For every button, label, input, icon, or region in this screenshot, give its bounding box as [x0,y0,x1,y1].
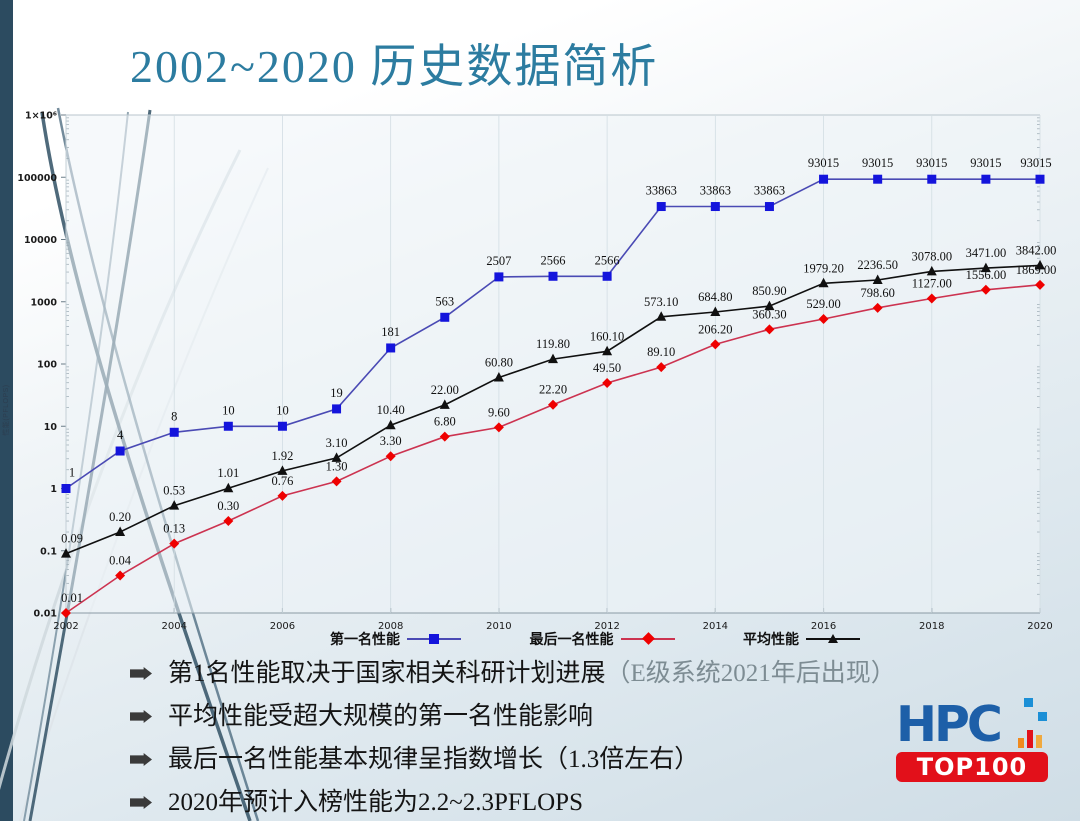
hpc-top100-logo: HPC TOP100 [896,700,1066,788]
list-item: 平均性能受超大规模的第一名性能影响 [130,698,920,737]
legend-item-average: 平均性能 [743,629,860,649]
svg-text:2566: 2566 [595,253,620,267]
svg-text:1556.00: 1556.00 [966,268,1007,282]
svg-text:93015: 93015 [862,156,893,170]
svg-text:3.10: 3.10 [326,436,348,450]
legend-item-last: 最后一名性能 [530,629,675,649]
svg-text:2002: 2002 [53,621,78,632]
svg-text:93015: 93015 [916,156,947,170]
svg-text:1: 1 [50,484,57,495]
svg-text:850.90: 850.90 [752,284,786,298]
legend-label-first: 第一名性能 [330,629,400,649]
svg-text:1979.20: 1979.20 [803,261,844,275]
svg-text:22.00: 22.00 [431,383,459,397]
logo-sub-badge: TOP100 [896,752,1048,782]
svg-text:3842.00: 3842.00 [1016,243,1057,257]
svg-text:684.80: 684.80 [698,290,732,304]
chart-svg: 1×10⁶1000001000010001001010.10.012002200… [0,105,1080,645]
legend-item-first: 第一名性能 [330,629,461,649]
svg-text:206.20: 206.20 [698,322,732,336]
svg-text:181: 181 [381,325,400,339]
svg-text:0.01: 0.01 [61,591,83,605]
svg-text:33863: 33863 [754,184,785,198]
svg-text:2236.50: 2236.50 [857,258,898,272]
bullet-arrow-icon [130,796,152,809]
svg-text:10: 10 [222,403,235,417]
slide-root: 2002~2020 历史数据简析 1×10⁶100000100001000100… [0,0,1080,821]
svg-text:2006: 2006 [270,621,295,632]
svg-text:798.60: 798.60 [860,286,894,300]
svg-text:10: 10 [44,422,58,433]
svg-text:2507: 2507 [486,254,511,268]
svg-text:1.01: 1.01 [217,466,239,480]
svg-text:2020: 2020 [1027,621,1052,632]
list-item: 第1名性能取决于国家相关科研计划进展（E级系统2021年后出现） [130,655,920,694]
bullet-text: 平均性能受超大规模的第一名性能影响 [168,698,593,736]
page-title: 2002~2020 历史数据简析 [130,30,658,96]
svg-text:0.01: 0.01 [34,609,57,620]
svg-text:119.80: 119.80 [536,337,570,351]
svg-text:2566: 2566 [541,253,566,267]
svg-text:4: 4 [117,428,124,442]
logo-sub-text: TOP100 [917,755,1027,779]
list-item: 最后一名性能基本规律呈指数增长（1.3倍左右） [130,741,920,780]
svg-text:573.10: 573.10 [644,295,678,309]
bullet-list: 第1名性能取决于国家相关科研计划进展（E级系统2021年后出现） 平均性能受超大… [130,655,920,821]
svg-text:0.04: 0.04 [109,554,132,568]
svg-text:49.50: 49.50 [593,361,621,375]
svg-text:0.13: 0.13 [163,522,185,536]
svg-text:563: 563 [435,294,454,308]
svg-text:60.80: 60.80 [485,355,513,369]
svg-text:22.20: 22.20 [539,383,567,397]
y-axis-title: 性能(PFLOPS) [1,380,11,440]
svg-text:1869.00: 1869.00 [1016,263,1057,277]
logo-barchart-icon [1016,722,1046,748]
svg-text:529.00: 529.00 [806,297,840,311]
svg-text:93015: 93015 [1020,156,1051,170]
svg-text:8: 8 [171,409,177,423]
bullet-arrow-icon [130,667,152,680]
legend-label-last: 最后一名性能 [530,629,614,649]
svg-text:2018: 2018 [919,621,944,632]
svg-text:1: 1 [69,466,75,480]
svg-text:93015: 93015 [970,156,1001,170]
svg-text:33863: 33863 [700,184,731,198]
svg-text:89.10: 89.10 [647,345,675,359]
svg-text:360.30: 360.30 [752,307,786,321]
svg-text:3.30: 3.30 [380,434,402,448]
svg-text:19: 19 [330,386,343,400]
svg-text:3471.00: 3471.00 [966,246,1007,260]
svg-text:1127.00: 1127.00 [912,277,952,291]
logo-square-icon [1024,698,1033,707]
list-item: 2020年预计入榜性能为2.2~2.3PFLOPS [130,784,920,821]
svg-text:93015: 93015 [808,156,839,170]
bullet-text: 2020年预计入榜性能为2.2~2.3PFLOPS [168,784,583,821]
svg-text:160.10: 160.10 [590,329,624,343]
bullet-arrow-icon [130,710,152,723]
svg-text:0.09: 0.09 [61,532,83,546]
legend-label-average: 平均性能 [743,629,799,649]
svg-text:6.80: 6.80 [434,415,456,429]
svg-text:0.76: 0.76 [272,474,294,488]
svg-text:0.20: 0.20 [109,510,131,524]
svg-text:1×10⁶: 1×10⁶ [25,111,57,122]
legend-glyph-last [621,633,675,645]
svg-text:10: 10 [276,403,289,417]
svg-text:0.53: 0.53 [163,484,185,498]
svg-text:0.30: 0.30 [217,499,239,513]
svg-text:3078.00: 3078.00 [911,249,952,263]
svg-text:2004: 2004 [161,621,186,632]
svg-text:10.40: 10.40 [377,403,405,417]
svg-text:1.30: 1.30 [326,459,348,473]
svg-text:10000: 10000 [24,235,57,246]
performance-history-chart: 1×10⁶1000001000010001001010.10.012002200… [0,105,1080,645]
svg-text:1000: 1000 [31,297,58,308]
bullet-text: 第1名性能取决于国家相关科研计划进展（E级系统2021年后出现） [168,655,896,693]
svg-text:100: 100 [37,360,57,371]
legend-glyph-first [407,633,461,645]
legend-glyph-average [806,633,860,645]
svg-text:100000: 100000 [17,173,57,184]
bullet-arrow-icon [130,753,152,766]
svg-text:0.1: 0.1 [40,546,57,557]
chart-legend: 第一名性能 最后一名性能 平均性能 [330,628,860,650]
svg-text:1.92: 1.92 [272,449,294,463]
svg-text:9.60: 9.60 [488,405,510,419]
svg-text:33863: 33863 [646,184,677,198]
bullet-text: 最后一名性能基本规律呈指数增长（1.3倍左右） [168,741,699,779]
logo-square-icon [1038,712,1047,721]
